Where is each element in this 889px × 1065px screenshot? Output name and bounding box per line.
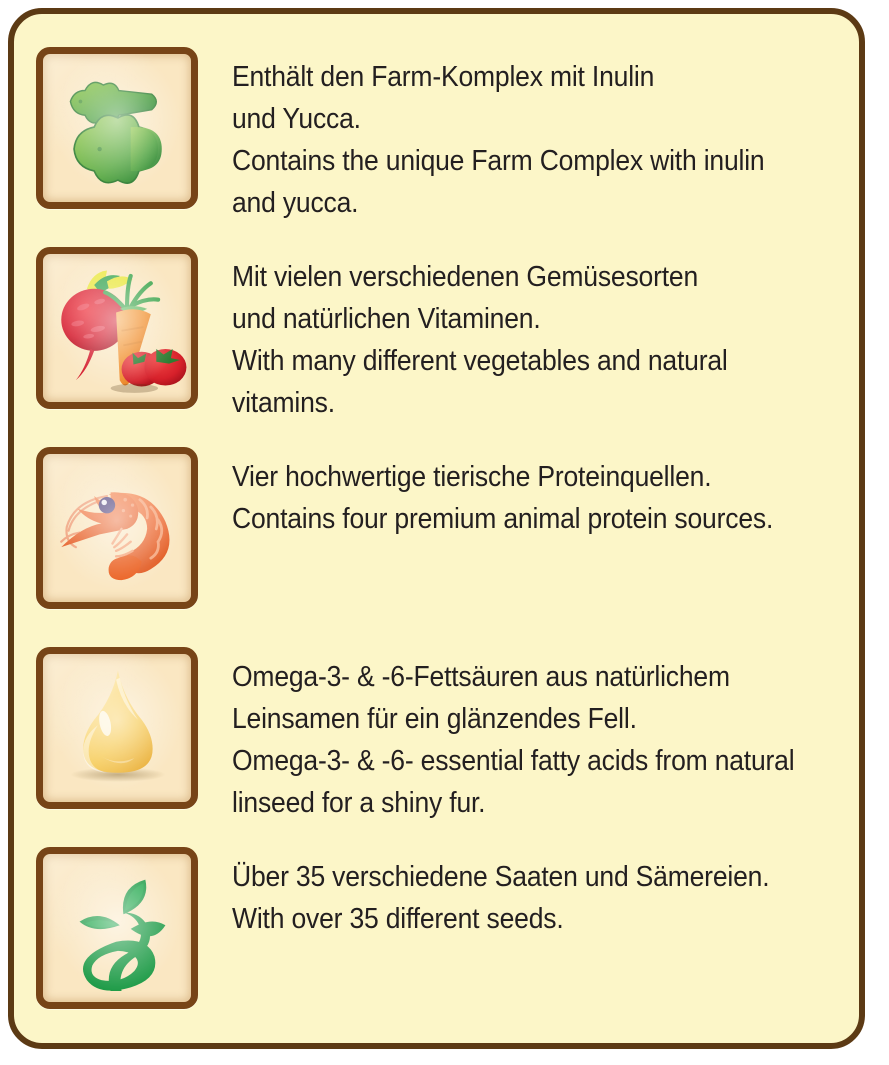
feature-row: Über 35 verschiedene Saaten und Sämereie… <box>36 847 810 1009</box>
chicory-root-icon <box>36 47 198 209</box>
feature-line: vitamins. <box>232 382 728 424</box>
feature-row: Mit vielen verschiedenen Gemüsesorten un… <box>36 247 765 424</box>
feature-row: Enthält den Farm-Komplex mit Inulin und … <box>36 47 805 224</box>
feature-line: linseed for a shiny fur. <box>232 782 794 824</box>
feature-line: Omega-3- & -6-Fettsäuren aus natürlichem <box>232 656 794 698</box>
feature-row: Vier hochwertige tierische Proteinquelle… <box>36 447 814 609</box>
shrimp-icon <box>36 447 198 609</box>
feature-line: Contains four premium animal protein sou… <box>232 498 773 540</box>
feature-line: Über 35 verschiedene Saaten und Sämereie… <box>232 856 769 898</box>
feature-text: Über 35 verschiedene Saaten und Sämereie… <box>232 847 810 940</box>
feature-text: Mit vielen verschiedenen Gemüsesorten un… <box>232 247 765 424</box>
feature-line: and yucca. <box>232 182 764 224</box>
feature-panel: Enthält den Farm-Komplex mit Inulin und … <box>8 8 865 1049</box>
feature-line: Omega-3- & -6- essential fatty acids fro… <box>232 740 794 782</box>
feature-line: und natürlichen Vitaminen. <box>232 298 728 340</box>
feature-line: Leinsamen für ein glänzendes Fell. <box>232 698 794 740</box>
oil-drop-icon <box>36 647 198 809</box>
feature-line: Mit vielen verschiedenen Gemüsesorten <box>232 256 728 298</box>
feature-line: With over 35 different seeds. <box>232 898 769 940</box>
vegetables-icon <box>36 247 198 409</box>
feature-line: Contains the unique Farm Complex with in… <box>232 140 764 182</box>
feature-line: Enthält den Farm-Komplex mit Inulin <box>232 56 764 98</box>
feature-text: Enthält den Farm-Komplex mit Inulin und … <box>232 47 805 224</box>
feature-line: With many different vegetables and natur… <box>232 340 728 382</box>
seedling-icon <box>36 847 198 1009</box>
feature-line: und Yucca. <box>232 98 764 140</box>
feature-text: Omega-3- & -6-Fettsäuren aus natürlichem… <box>232 647 837 824</box>
feature-row: Omega-3- & -6-Fettsäuren aus natürlichem… <box>36 647 837 824</box>
feature-text: Vier hochwertige tierische Proteinquelle… <box>232 447 814 540</box>
feature-line: Vier hochwertige tierische Proteinquelle… <box>232 456 773 498</box>
